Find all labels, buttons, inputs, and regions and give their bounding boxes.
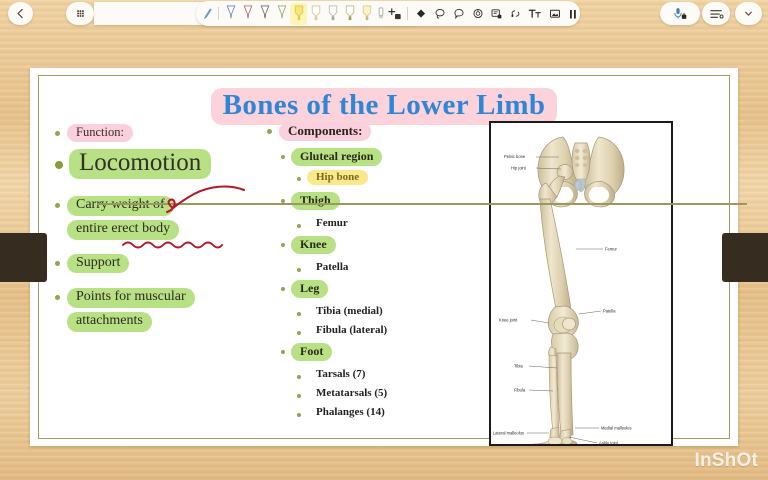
grid-menu-button[interactable] (66, 2, 94, 25)
points-line-2: attachments (67, 312, 152, 332)
locomotion-label: Locomotion (69, 149, 211, 179)
phalanges-label: Phalanges (14) (307, 406, 385, 418)
foot-label: Foot (291, 343, 332, 361)
bullet-dot-icon (297, 177, 301, 181)
gluteal-region-label: Gluteal region (291, 148, 382, 166)
list-item-points-muscular[interactable]: Points for muscular (55, 288, 290, 308)
slide-inner-border: Bones of the Lower Limb Function: Locomo… (38, 75, 730, 439)
page-title: Bones of the Lower Limb (223, 89, 546, 121)
figure-label-ankle-joint: Ankle joint (599, 440, 619, 444)
metatarsals-label: Metatarsals (5) (307, 387, 387, 399)
inshot-watermark: InShOt (695, 450, 758, 472)
grid-dots-icon[interactable] (74, 3, 87, 25)
bullet-dot-icon (281, 350, 285, 354)
highlighter-grey-tool[interactable] (324, 3, 341, 25)
chevron-down-icon[interactable] (742, 3, 755, 25)
hip-bone-label: Hip bone (307, 170, 368, 185)
figure-label-fibula: Fibula (514, 387, 526, 392)
bullet-dot-icon (297, 312, 301, 316)
toolbar-divider (407, 7, 408, 20)
list-item-leg[interactable]: Leg (281, 280, 482, 298)
slide-title-row: Bones of the Lower Limb (39, 88, 729, 125)
olive-highlighter-stroke (97, 203, 747, 205)
bullet-dot-icon (297, 413, 301, 417)
list-item-gluteal-region[interactable]: Gluteal region (281, 148, 482, 166)
stamp-icon[interactable] (468, 3, 487, 25)
list-item-support[interactable]: Support (55, 254, 290, 274)
pen-red-tool[interactable] (239, 3, 256, 25)
sticky-note-icon[interactable] (487, 3, 506, 25)
support-label: Support (67, 254, 129, 274)
link-icon[interactable] (506, 3, 525, 25)
figure-label-knee-joint: Knee joint (499, 318, 518, 323)
carry-weight-line-2: entire erect body (67, 220, 179, 240)
fibula-label: Fibula (lateral) (307, 324, 387, 336)
components-label: Components: (279, 122, 371, 141)
back-button[interactable] (8, 2, 33, 25)
list-item-tarsals[interactable]: Tarsals (7) (297, 368, 482, 380)
list-item-function[interactable]: Function: (55, 124, 290, 142)
patella-label: Patella (307, 261, 348, 273)
points-line-1: Points for muscular (67, 288, 195, 308)
bullet-dot-icon (55, 295, 60, 300)
bullet-dot-icon (297, 394, 301, 398)
list-item-tibia[interactable]: Tibia (medial) (297, 305, 482, 317)
pause-icon[interactable] (564, 3, 581, 25)
bullet-dot-icon (297, 331, 301, 335)
left-bullet-column: Function: Locomotion Carry weight of ent… (55, 124, 290, 332)
tibia-label: Tibia (medial) (307, 305, 383, 317)
figure-label-pelvic-bone: Pelvic bone (504, 154, 526, 159)
pen-tool[interactable] (200, 3, 215, 25)
knee-label: Knee (291, 236, 336, 254)
collapse-toolbar-button[interactable] (735, 2, 762, 25)
highlighter-olive-tool[interactable] (341, 3, 358, 25)
function-label: Function: (67, 124, 133, 142)
bullet-dot-icon (55, 261, 60, 266)
list-item-components[interactable]: Components: (267, 122, 482, 141)
list-item-fibula[interactable]: Fibula (lateral) (297, 324, 482, 336)
bullet-dot-icon (55, 203, 60, 208)
leg-label: Leg (291, 280, 328, 298)
list-item-foot[interactable]: Foot (281, 343, 482, 361)
pen-blue-tool[interactable] (222, 3, 239, 25)
pen-black-tool[interactable] (256, 3, 273, 25)
list-view-icon[interactable] (709, 3, 724, 25)
carry-weight-line-1: Carry weight of (67, 196, 174, 216)
add-tool-button[interactable] (386, 3, 404, 25)
list-view-button[interactable] (702, 2, 730, 25)
bullet-dot-icon (281, 243, 285, 247)
skeleton-illustration: Pelvic bone Hip joint Femur Knee joint P… (491, 123, 671, 444)
tarsals-label: Tarsals (7) (307, 368, 365, 380)
bullet-dot-icon (297, 375, 301, 379)
list-item-femur[interactable]: Femur (297, 217, 482, 229)
list-item-phalanges[interactable]: Phalanges (14) (297, 406, 482, 418)
bullet-dot-icon (297, 268, 301, 272)
patella-group (563, 318, 576, 330)
eraser-small-tool[interactable] (375, 3, 386, 25)
slide-canvas[interactable]: Bones of the Lower Limb Function: Locomo… (30, 68, 738, 446)
tool-palette[interactable] (196, 1, 580, 26)
microphone-button[interactable] (660, 2, 700, 25)
points-continuation[interactable]: attachments (55, 312, 290, 332)
comment-icon[interactable] (449, 3, 468, 25)
thigh-label: Thigh (291, 192, 340, 210)
list-item-carry-weight[interactable]: Carry weight of (55, 196, 290, 216)
text-tool-icon[interactable] (525, 3, 545, 25)
carry-weight-continuation[interactable]: entire erect body (55, 220, 290, 240)
bullet-dot-icon (55, 131, 60, 136)
list-item-knee[interactable]: Knee (281, 236, 482, 254)
list-item-thigh[interactable]: Thigh (281, 192, 482, 210)
annotation-toolbar (0, 0, 768, 27)
list-item-metatarsals[interactable]: Metatarsals (5) (297, 387, 482, 399)
left-marker-stroke (0, 233, 47, 282)
toolbar-divider (218, 7, 219, 20)
bullet-dot-icon (267, 129, 272, 134)
lower-limb-skeleton-diagram[interactable]: Pelvic bone Hip joint Femur Knee joint P… (489, 121, 673, 446)
list-item-hip-bone[interactable]: Hip bone (297, 170, 482, 185)
right-marker-stroke (722, 233, 768, 282)
eraser-icon[interactable] (411, 3, 430, 25)
title-highlight: Bones of the Lower Limb (211, 88, 558, 125)
femur-label: Femur (307, 217, 348, 229)
back-arrow-icon[interactable] (14, 3, 27, 25)
bullet-dot-icon (281, 287, 285, 291)
figure-label-tibia: Tibia (514, 363, 523, 368)
highlighter-cream-tool[interactable] (307, 3, 324, 25)
bullet-dot-icon (55, 161, 63, 169)
list-item-locomotion[interactable]: Locomotion (55, 149, 290, 179)
figure-label-patella: Patella (603, 308, 616, 313)
highlighter-yellow-tool[interactable] (290, 3, 307, 25)
bullet-dot-icon (297, 224, 301, 228)
highlighter-tan-tool[interactable] (358, 3, 375, 25)
figure-label-hip-joint: Hip joint (511, 166, 527, 171)
lasso-select-icon[interactable] (430, 3, 449, 25)
figure-label-lateral-malleolus: Lateral malleolus (493, 430, 524, 435)
microphone-lock-icon[interactable] (671, 3, 689, 25)
image-insert-icon[interactable] (545, 3, 564, 25)
components-column: Components: Gluteal region Hip bone Thig… (267, 122, 482, 418)
figure-label-medial-malleolus: Medial malleolus (601, 425, 632, 430)
figure-label-femur: Femur (605, 246, 617, 251)
pen-green-tool[interactable] (273, 3, 290, 25)
list-item-patella[interactable]: Patella (297, 261, 482, 273)
bullet-dot-icon (281, 155, 285, 159)
